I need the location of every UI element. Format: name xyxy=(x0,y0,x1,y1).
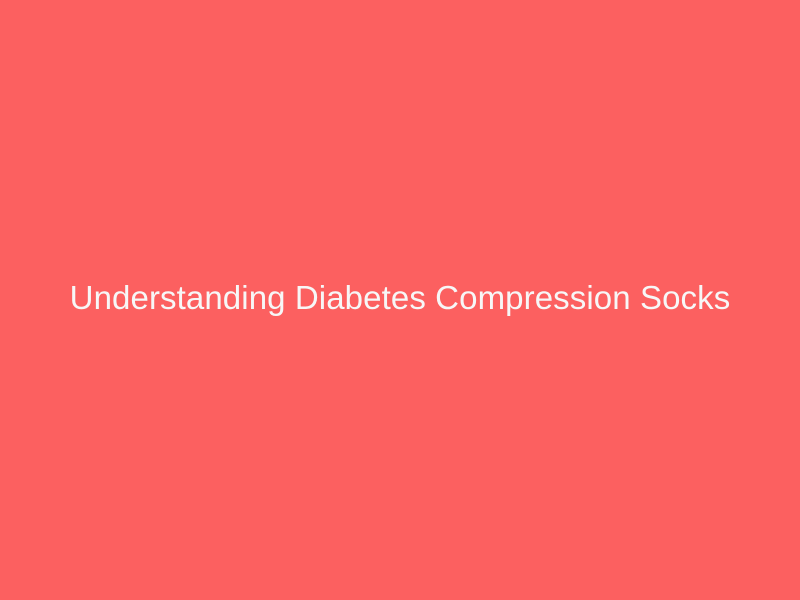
article-banner: Understanding Diabetes Compression Socks xyxy=(0,0,800,600)
page-title: Understanding Diabetes Compression Socks xyxy=(70,278,731,318)
